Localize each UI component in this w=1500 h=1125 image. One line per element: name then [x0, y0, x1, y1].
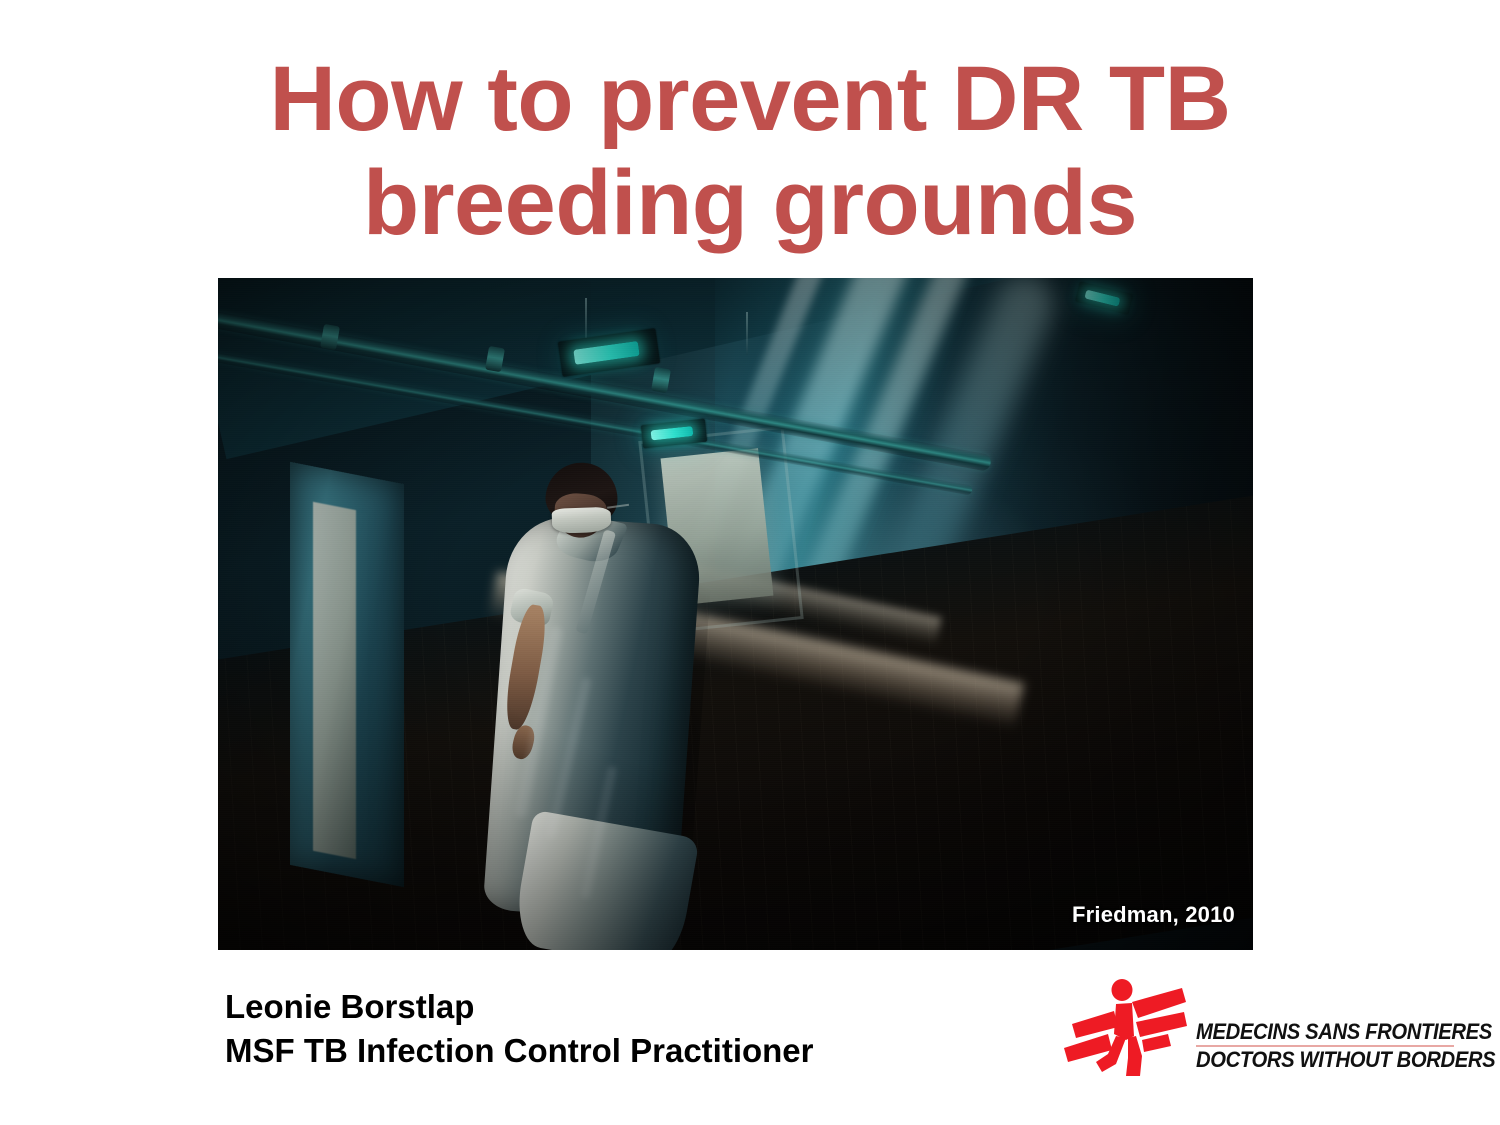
slide-title: How to prevent DR TB breeding grounds: [240, 48, 1260, 256]
hanging-cord-2: [746, 312, 748, 356]
presentation-slide: How to prevent DR TB breeding grounds: [0, 0, 1500, 1125]
msf-logo: MEDECINS SANS FRONTIERES DOCTORS WITHOUT…: [1058, 978, 1458, 1080]
presenter-details: Leonie Borstlap MSF TB Infection Control…: [225, 985, 814, 1073]
msf-line-french: MEDECINS SANS FRONTIERES: [1196, 1020, 1437, 1044]
msf-wordmark: MEDECINS SANS FRONTIERES DOCTORS WITHOUT…: [1196, 1020, 1458, 1072]
msf-running-figure-icon: [1058, 978, 1190, 1080]
msf-line-english: DOCTORS WITHOUT BORDERS: [1196, 1048, 1437, 1072]
photo-credit: Friedman, 2010: [1072, 902, 1235, 928]
left-doorway-light: [313, 502, 356, 860]
corridor-photograph: Friedman, 2010: [218, 278, 1253, 950]
slide-photo: Friedman, 2010: [218, 278, 1253, 950]
masked-patient-figure: [450, 456, 793, 950]
